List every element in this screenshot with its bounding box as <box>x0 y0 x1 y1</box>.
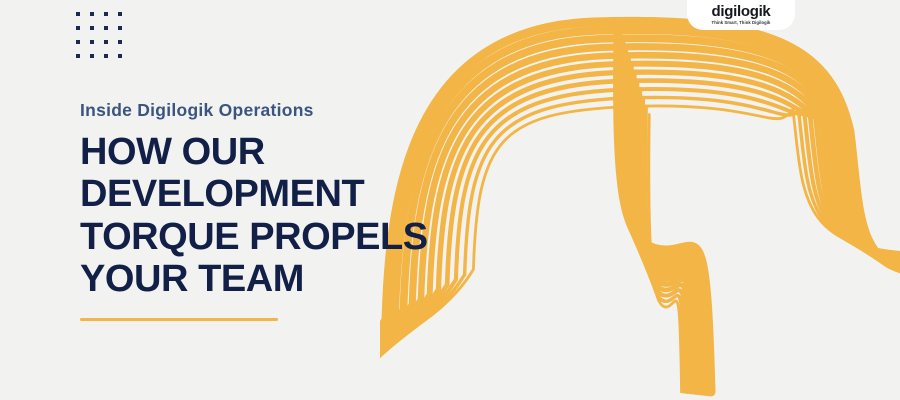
wave-line-hook <box>646 106 685 392</box>
logo-tagline: Think Smart, Think Digilogik <box>712 21 771 25</box>
logo-wordmark: digilogik <box>712 4 771 19</box>
headline-line: HOW OUR <box>80 131 510 173</box>
grid-dot <box>76 54 80 58</box>
grid-dot <box>90 26 94 30</box>
grid-dot <box>118 54 122 58</box>
wave-line-hook <box>639 89 690 392</box>
wave-line-hook <box>621 38 708 392</box>
dot-grid-decoration <box>76 12 132 68</box>
wave-line-hook <box>627 55 702 392</box>
hero-text-block: Inside Digilogik Operations HOW OUR DEVE… <box>80 100 510 321</box>
grid-dot <box>76 40 80 44</box>
eyebrow-label: Inside Digilogik Operations <box>80 100 510 121</box>
grid-dot <box>104 12 108 16</box>
blog-banner: Inside Digilogik Operations HOW OUR DEVE… <box>0 0 900 400</box>
grid-dot <box>76 26 80 30</box>
grid-dot <box>90 40 94 44</box>
wave-line-hook <box>630 64 699 392</box>
grid-dot <box>76 12 80 16</box>
grid-dot <box>118 12 122 16</box>
grid-dot <box>90 12 94 16</box>
page-title: HOW OUR DEVELOPMENT TORQUE PROPELS YOUR … <box>80 131 510 300</box>
accent-underline <box>80 318 278 321</box>
wave-line-hook <box>633 72 696 392</box>
grid-dot <box>118 40 122 44</box>
brand-logo[interactable]: digilogik Think Smart, Think Digilogik <box>687 0 795 30</box>
wave-line-hook <box>643 98 688 392</box>
headline-line: YOUR TEAM <box>80 258 510 300</box>
headline-line: DEVELOPMENT <box>80 173 510 215</box>
grid-dot <box>104 54 108 58</box>
wave-line-hook <box>624 47 705 392</box>
grid-dot <box>104 40 108 44</box>
grid-dot <box>104 26 108 30</box>
wave-line-hook <box>649 115 682 392</box>
grid-dot <box>90 54 94 58</box>
wave-line-hook <box>636 81 693 392</box>
grid-dot <box>118 26 122 30</box>
headline-line: TORQUE PROPELS <box>80 216 510 258</box>
wave-line-hook <box>618 30 711 392</box>
